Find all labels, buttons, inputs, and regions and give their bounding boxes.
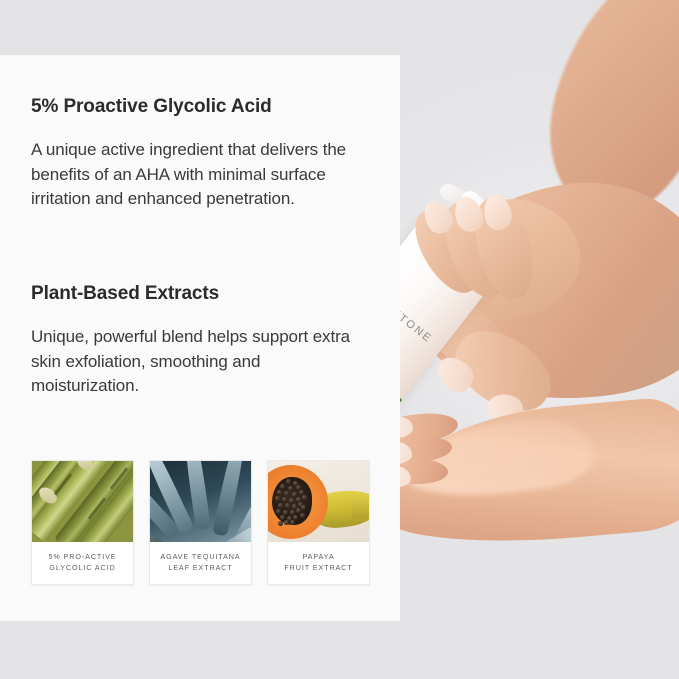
feature-block-glycolic-acid: 5% Proactive Glycolic Acid A unique acti…	[31, 96, 371, 212]
ingredient-card-list: 5% PRO-ACTIVEGLYCOLIC ACID AGAVE TEQUITA…	[31, 460, 370, 585]
ingredient-card: 5% PRO-ACTIVEGLYCOLIC ACID	[31, 460, 134, 585]
feature-block-plant-extracts: Plant-Based Extracts Unique, powerful bl…	[31, 283, 371, 399]
ingredient-card: AGAVE TEQUITANALEAF EXTRACT	[149, 460, 252, 585]
papaya-fruit-photo	[268, 461, 369, 542]
sugarcane-photo	[32, 461, 133, 542]
ingredient-card: PAPAYAFRUIT EXTRACT	[267, 460, 370, 585]
ingredient-caption: PAPAYAFRUIT EXTRACT	[268, 542, 369, 584]
product-infographic: GLYTONE ResurfacingBody Oil BODY THERAPY…	[0, 0, 679, 679]
agave-leaves-photo	[150, 461, 251, 542]
ingredient-caption: 5% PRO-ACTIVEGLYCOLIC ACID	[32, 542, 133, 584]
section-body: Unique, powerful blend helps support ext…	[31, 325, 371, 399]
section-title: Plant-Based Extracts	[31, 283, 371, 305]
section-body: A unique active ingredient that delivers…	[31, 138, 371, 212]
ingredient-caption: AGAVE TEQUITANALEAF EXTRACT	[150, 542, 251, 584]
section-title: 5% Proactive Glycolic Acid	[31, 96, 371, 118]
content-panel: 5% Proactive Glycolic Acid A unique acti…	[0, 55, 400, 621]
